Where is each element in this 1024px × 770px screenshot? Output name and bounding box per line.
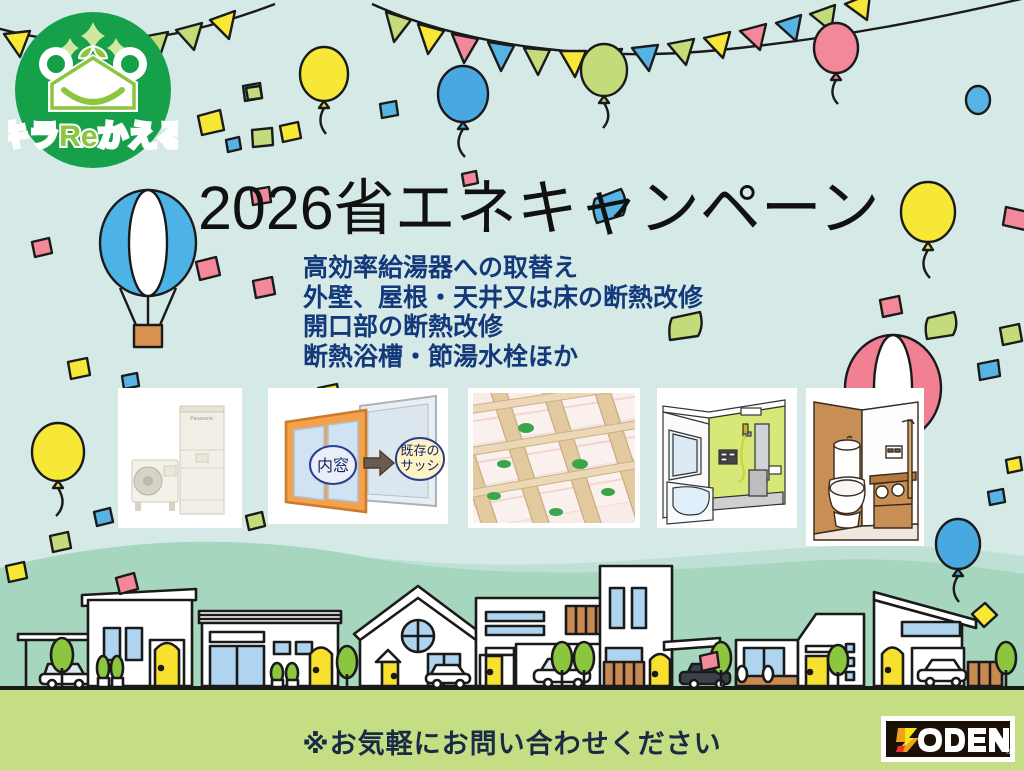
campaign-poster: キラReかえる キラReかえる 2026省エネキャンペーン 高効率給湯器への取替… (0, 0, 1024, 770)
balloon-blue-small-top (966, 86, 990, 114)
svg-text:キラReかえる: キラReかえる (8, 120, 178, 153)
benefit-item-2: 外壁、屋根・天井又は床の断熱改修 (303, 284, 703, 314)
svg-text:サッシ: サッシ (400, 458, 439, 473)
balloon-green (581, 44, 627, 128)
photo-floor-ceiling-insulation (468, 388, 640, 528)
balloon-yellow (300, 47, 348, 134)
kira-re-kaeru-logo: キラReかえる キラReかえる (8, 8, 178, 178)
page-title: 2026省エネキャンペーン (198, 176, 880, 242)
benefit-list: 高効率給湯器への取替え 外壁、屋根・天井又は床の断熱改修 開口部の断熱改修 断熱… (303, 254, 703, 372)
registered-mark: ® (1006, 748, 1012, 756)
benefit-item-4: 断熱浴槽・節湯水栓ほか (303, 343, 703, 373)
balloon-yellow-right (901, 182, 955, 278)
soden-company-logo: ® (881, 716, 1015, 762)
hot-air-balloon-left (100, 190, 196, 347)
photo-inner-window-sash: 内窓 既存の サッシ (268, 388, 448, 524)
photo-toilet-remodel (806, 388, 924, 546)
svg-text:Panasonic: Panasonic (190, 416, 214, 422)
product-photo-strip: Panasonic (0, 388, 1024, 544)
benefit-item-1: 高効率給湯器への取替え (303, 254, 703, 284)
balloon-pink (814, 23, 858, 104)
benefit-item-3: 開口部の断熱改修 (303, 313, 703, 343)
svg-text:既存の: 既存の (400, 443, 439, 458)
label-inner-window-text: 内窓 (317, 457, 349, 475)
logo-wordmark: キラReかえる キラReかえる (8, 120, 178, 153)
photo-heat-pump-water-heater: Panasonic (118, 388, 242, 528)
contact-note: ※お気軽にお問い合わせください (0, 722, 1024, 761)
photo-bathroom-unit-bath (657, 388, 797, 528)
balloon-blue (438, 66, 488, 157)
